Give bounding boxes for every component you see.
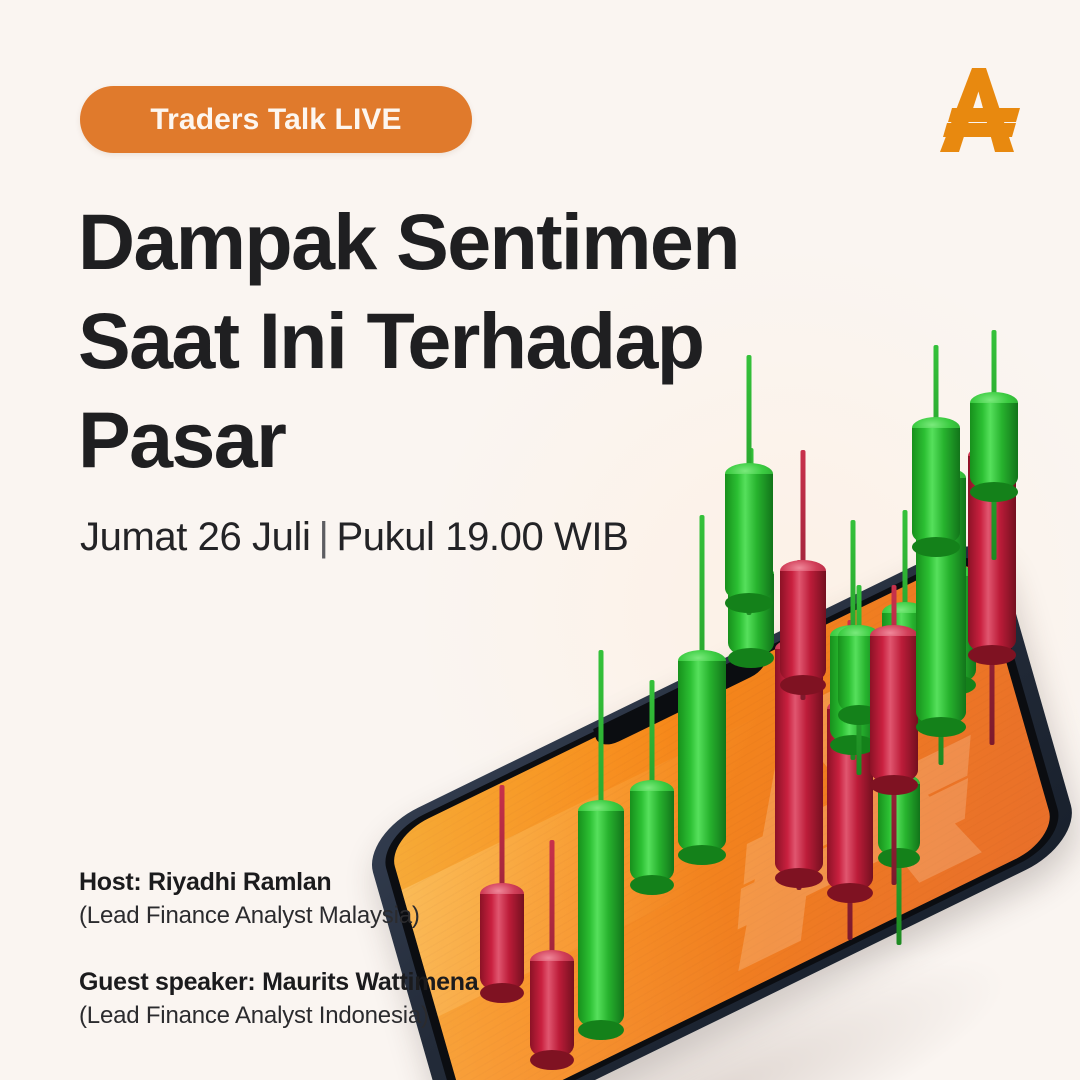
speaker-credits: Host: Riyadhi Ramlan (Lead Finance Analy… xyxy=(79,866,599,1032)
candle-20 xyxy=(970,330,1018,620)
headline-line-1: Dampak Sentimen xyxy=(78,192,838,291)
promo-poster: Traders Talk LIVE Dampak Sentimen Saat I… xyxy=(0,0,1080,1080)
credit-guest: Guest speaker: Maurits Wattimena (Lead F… xyxy=(79,966,599,1032)
event-date: Jumat 26 Juli xyxy=(80,515,310,559)
guest-name: Guest speaker: Maurits Wattimena xyxy=(79,966,599,999)
candle-10 xyxy=(725,355,773,695)
guest-role: (Lead Finance Analyst Indonesia) xyxy=(79,999,599,1032)
live-badge-label: Traders Talk LIVE xyxy=(150,105,401,135)
live-badge[interactable]: Traders Talk LIVE xyxy=(80,86,472,153)
ascendex-a-logo-icon xyxy=(928,62,1028,158)
credit-host: Host: Riyadhi Ramlan (Lead Finance Analy… xyxy=(79,866,599,932)
candle-4 xyxy=(630,680,674,960)
candle-5 xyxy=(678,515,726,935)
host-name: Host: Riyadhi Ramlan xyxy=(79,866,599,899)
candle-19 xyxy=(912,345,960,645)
candle-16 xyxy=(870,585,918,945)
candle-12 xyxy=(780,450,826,780)
host-role: (Lead Finance Analyst Malaysia) xyxy=(79,899,599,932)
